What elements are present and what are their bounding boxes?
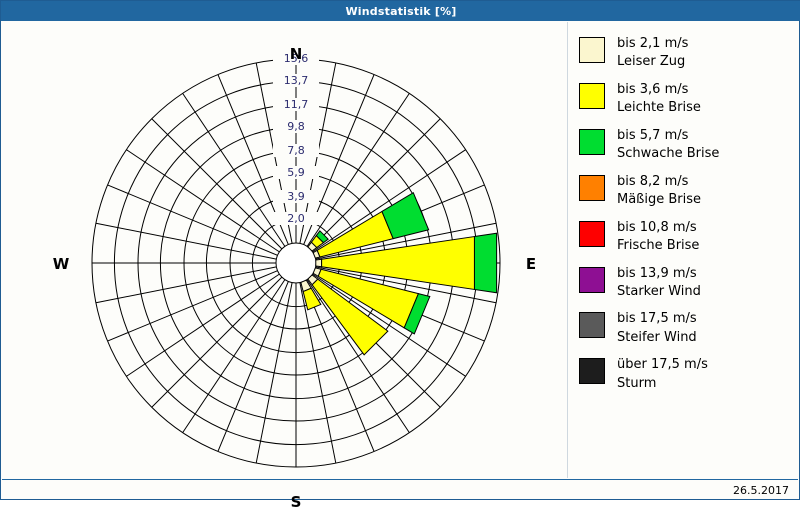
wind-statistics-window: Windstatistik [%] 2,03,95,97,89,811,713,… bbox=[0, 0, 800, 500]
footer-divider bbox=[2, 479, 798, 480]
legend-color-swatch bbox=[579, 129, 605, 155]
legend-speed-range: bis 5,7 m/s bbox=[617, 127, 719, 145]
legend-color-swatch bbox=[579, 312, 605, 338]
radial-tick-label: 11,7 bbox=[273, 98, 319, 111]
legend-speed-range: bis 2,1 m/s bbox=[617, 35, 688, 53]
legend-item[interactable]: über 17,5 m/sSturm bbox=[579, 356, 793, 393]
wind-rose-chart: 2,03,95,97,89,811,713,715,6 N E S W bbox=[1, 21, 561, 499]
radial-tick-label: 5,9 bbox=[273, 166, 319, 179]
radial-tick-label: 7,8 bbox=[273, 144, 319, 157]
legend-speed-range: bis 10,8 m/s bbox=[617, 219, 699, 237]
legend-label: bis 2,1 m/sLeiser Zug bbox=[617, 35, 688, 72]
legend-beaufort-name: Steifer Wind bbox=[617, 329, 697, 347]
legend-beaufort-name: Leiser Zug bbox=[617, 53, 688, 71]
legend-beaufort-name: Sturm bbox=[617, 375, 708, 393]
legend-beaufort-name: Mäßige Brise bbox=[617, 191, 701, 209]
radial-tick-label: 2,0 bbox=[273, 212, 319, 225]
legend-color-swatch bbox=[579, 83, 605, 109]
compass-label-west: W bbox=[31, 255, 91, 273]
legend-label: bis 17,5 m/sSteifer Wind bbox=[617, 310, 697, 347]
legend-speed-range: über 17,5 m/s bbox=[617, 356, 708, 374]
radial-tick-label: 9,8 bbox=[273, 120, 319, 133]
legend-label: bis 3,6 m/sLeichte Brise bbox=[617, 81, 701, 118]
legend-label: bis 8,2 m/sMäßige Brise bbox=[617, 173, 701, 210]
legend-beaufort-name: Leichte Brise bbox=[617, 99, 701, 117]
compass-label-east: E bbox=[501, 255, 561, 273]
legend-label: bis 10,8 m/sFrische Brise bbox=[617, 219, 699, 256]
legend-item[interactable]: bis 13,9 m/sStarker Wind bbox=[579, 265, 793, 302]
legend-speed-range: bis 13,9 m/s bbox=[617, 265, 701, 283]
legend-beaufort-name: Starker Wind bbox=[617, 283, 701, 301]
legend-label: über 17,5 m/sSturm bbox=[617, 356, 708, 393]
legend-item[interactable]: bis 10,8 m/sFrische Brise bbox=[579, 219, 793, 256]
legend-label: bis 13,9 m/sStarker Wind bbox=[617, 265, 701, 302]
legend-color-swatch bbox=[579, 221, 605, 247]
legend-color-swatch bbox=[579, 37, 605, 63]
legend-item[interactable]: bis 8,2 m/sMäßige Brise bbox=[579, 173, 793, 210]
compass-label-south: S bbox=[266, 493, 326, 511]
wind-rose-petals bbox=[301, 193, 497, 355]
legend-speed-range: bis 17,5 m/s bbox=[617, 310, 697, 328]
legend-item[interactable]: bis 3,6 m/sLeichte Brise bbox=[579, 81, 793, 118]
legend-divider bbox=[567, 22, 568, 478]
footer-date: 26.5.2017 bbox=[733, 484, 789, 497]
radial-tick-label: 13,7 bbox=[273, 74, 319, 87]
window-title-bar: Windstatistik [%] bbox=[1, 1, 800, 21]
legend-item[interactable]: bis 5,7 m/sSchwache Brise bbox=[579, 127, 793, 164]
legend-color-swatch bbox=[579, 175, 605, 201]
legend-color-swatch bbox=[579, 267, 605, 293]
legend-label: bis 5,7 m/sSchwache Brise bbox=[617, 127, 719, 164]
radial-tick-label: 3,9 bbox=[273, 190, 319, 203]
legend-item[interactable]: bis 17,5 m/sSteifer Wind bbox=[579, 310, 793, 347]
compass-label-north: N bbox=[266, 45, 326, 63]
legend-beaufort-name: Schwache Brise bbox=[617, 145, 719, 163]
legend: bis 2,1 m/sLeiser Zugbis 3,6 m/sLeichte … bbox=[579, 35, 793, 402]
legend-speed-range: bis 8,2 m/s bbox=[617, 173, 701, 191]
legend-item[interactable]: bis 2,1 m/sLeiser Zug bbox=[579, 35, 793, 72]
page-title: Windstatistik [%] bbox=[345, 5, 456, 18]
legend-speed-range: bis 3,6 m/s bbox=[617, 81, 701, 99]
legend-beaufort-name: Frische Brise bbox=[617, 237, 699, 255]
legend-color-swatch bbox=[579, 358, 605, 384]
